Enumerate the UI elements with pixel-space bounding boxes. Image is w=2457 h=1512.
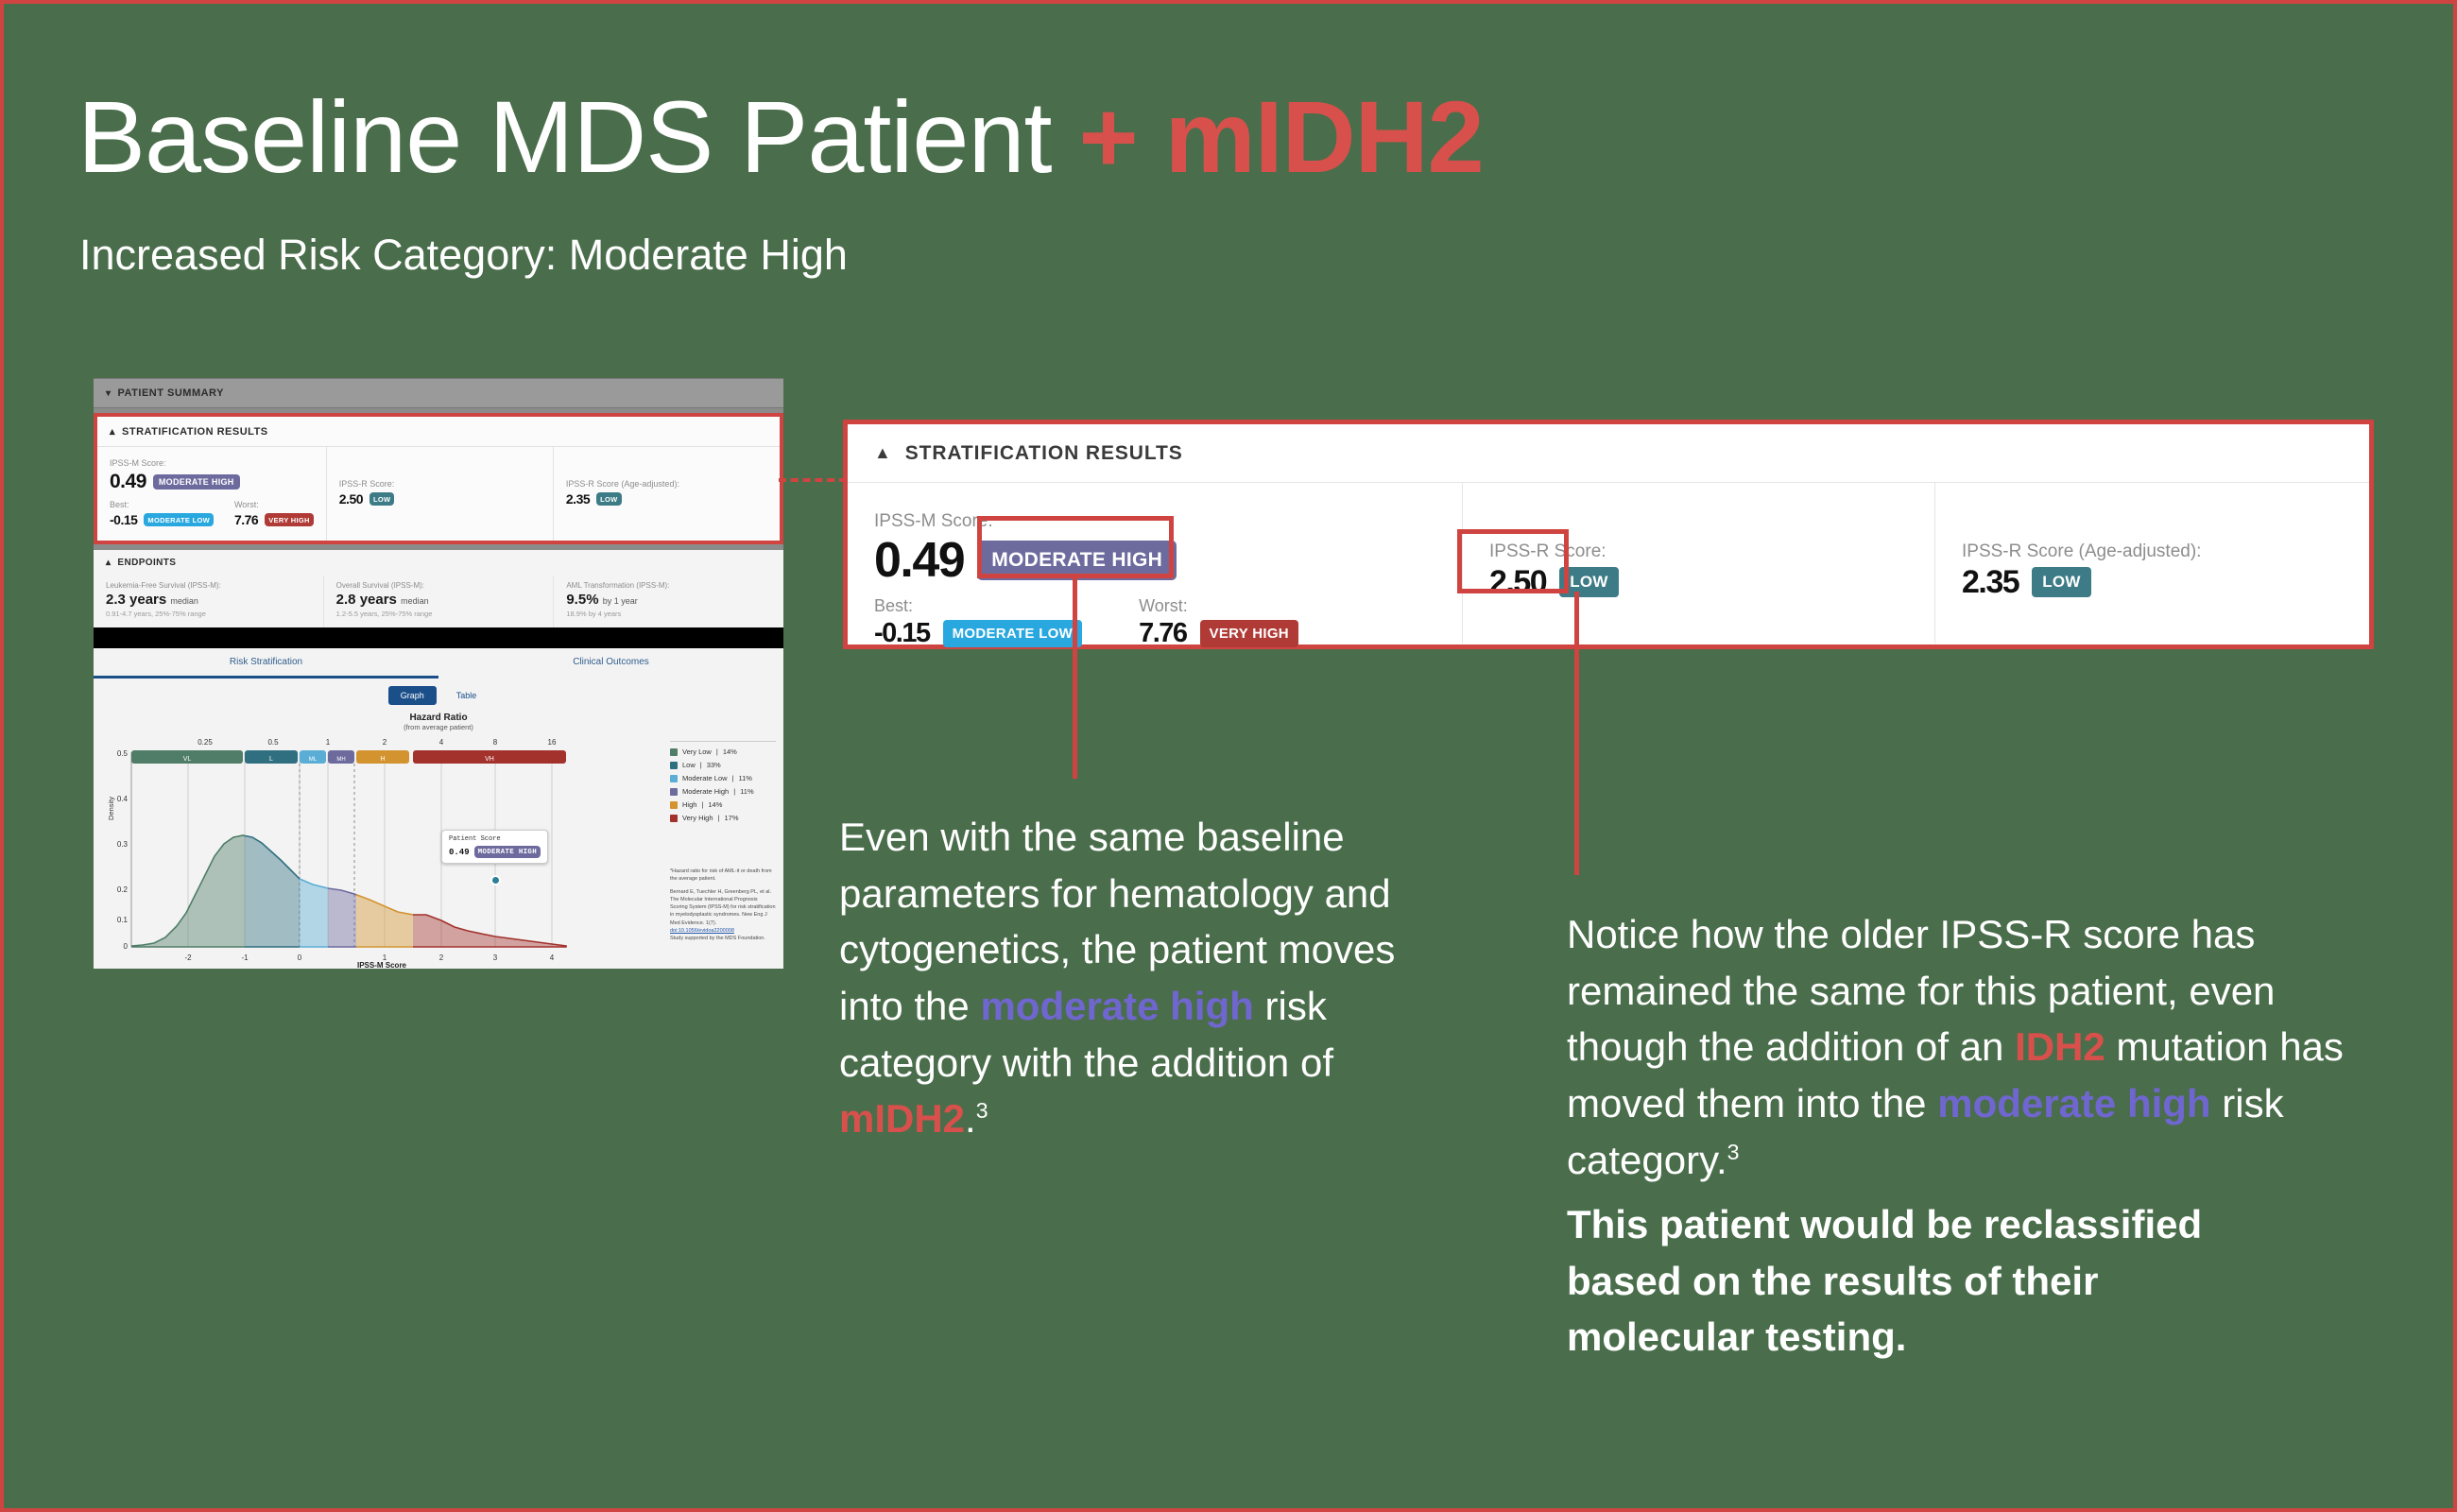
legend-swatch [670,801,678,809]
legend-item: Moderate High| 11% [670,787,776,796]
callout-left-superscript: 3 [976,1098,988,1123]
chevron-up-icon: ▴ [110,425,115,438]
panel-header-label: STRATIFICATION RESULTS [905,442,1183,465]
panel-best-cell: Best: -0.15 MODERATE LOW [874,596,1082,647]
thumb-endpoints-panel: ▴ ENDPOINTS Leukemia-Free Survival (IPSS… [94,550,783,648]
panel-ipssm-badge: MODERATE HIGH [977,541,1177,580]
svg-text:VH: VH [485,756,494,763]
thumb-ipssm-label: IPSS-M Score: [110,458,314,468]
callout-right-highlight: moderate high [1937,1081,2210,1125]
thumb-ipssr-label: IPSS-R Score: [339,479,541,489]
legend-swatch [670,815,678,822]
panel-best-label: Best: [874,596,1082,616]
chevron-up-icon: ▴ [106,558,111,568]
citation-reference: Bernard E, Tuechler H, Greenberg PL, et … [670,889,776,926]
thumb-endpoint-item: AML Transformation (IPSS-M): 9.5% by 1 y… [553,576,783,627]
thumb-endpoint-label: AML Transformation (IPSS-M): [566,581,771,590]
citation-doi-link[interactable]: doi:10.1056/evidoa2200008 [670,928,734,934]
svg-text:ML: ML [309,757,318,763]
svg-text:0.1: 0.1 [117,916,129,924]
thumb-best-cell: Best: -0.15 MODERATE LOW [110,500,214,527]
panel-worst-label: Worst: [1139,596,1298,616]
panel-ipssm-value: 0.49 [874,536,964,585]
svg-text:L: L [269,756,273,763]
legend-pct: 17% [724,814,738,822]
legend-item: Moderate Low| 11% [670,774,776,782]
panel-best-badge: MODERATE LOW [943,620,1082,647]
thumb-tab-clinical-outcomes[interactable]: Clinical Outcomes [438,648,783,679]
chart-svg: 0.25 0.5 1 2 4 8 16 0.5 0.4 0.3 0.2 0.1 … [94,733,668,969]
thumb-best-value: -0.15 [110,512,137,527]
citation-footnote: *Hazard ratio for risk of AML-it or deat… [670,868,776,884]
panel-ipssm-column: IPSS-M Score: 0.49 MODERATE HIGH Best: -… [848,483,1462,644]
panel-worst-badge: VERY HIGH [1200,620,1298,647]
svg-text:MH: MH [336,757,345,763]
thumbnail-to-panel-connector [779,478,847,482]
chart-subtitle: (from average patient) [94,723,783,731]
thumb-worst-value: 7.76 [234,512,258,527]
thumb-endpoint-label: Overall Survival (IPSS-M): [336,581,541,590]
svg-text:H: H [380,756,385,763]
thumb-worst-badge: VERY HIGH [265,513,314,526]
chevron-up-icon: ▲ [874,443,892,463]
callout-left-highlight: moderate high [980,984,1253,1028]
thumb-endpoint-item: Leukemia-Free Survival (IPSS-M): 2.3 yea… [94,576,323,627]
panel-best-value: -0.15 [874,620,930,647]
connector-line-moderate-high [1073,576,1077,779]
chart-legend: Very Low| 14% Low| 33% Moderate Low| 11%… [670,741,776,827]
legend-label: High [682,800,696,809]
legend-label: Moderate High [682,787,729,796]
panel-ipssr-value: 2.50 [1489,566,1546,598]
thumb-endpoint-item: Overall Survival (IPSS-M): 2.8 years med… [323,576,554,627]
patient-score-marker [490,875,501,885]
thumb-endpoint-sub: 1.2-5.5 years, 25%-75% range [336,610,541,618]
svg-text:0.5: 0.5 [267,738,279,747]
thumb-toggle-graph[interactable]: Graph [388,686,437,705]
page-subtitle: Increased Risk Category: Moderate High [79,231,848,280]
slide-root: Baseline MDS Patient + mIDH2 Increased R… [0,0,2457,1512]
tooltip-badge: MODERATE HIGH [474,846,541,858]
panel-ipssr-age-badge: LOW [2032,567,2091,597]
chart-title: Hazard Ratio [94,709,783,723]
legend-label: Low [682,761,696,769]
legend-swatch [670,788,678,796]
thumb-endpoint-unit: median [170,596,198,606]
thumb-endpoint-value: 2.8 years [336,592,397,608]
svg-text:0.2: 0.2 [117,885,129,894]
thumb-ipssm-cell: IPSS-M Score: 0.49 MODERATE HIGH Best: -… [97,447,326,541]
thumb-ipssm-value: 0.49 [110,471,146,493]
legend-item: Low| 33% [670,761,776,769]
citation-support: Study supported by the MDS Foundation. [670,935,776,942]
legend-item: Very High| 17% [670,814,776,822]
thumb-worst-cell: Worst: 7.76 VERY HIGH [234,500,314,527]
thumb-patient-summary-label: PATIENT SUMMARY [118,387,224,399]
panel-worst-value: 7.76 [1139,620,1186,647]
thumb-endpoint-value: 2.3 years [106,592,166,608]
page-title-accent: mIDH2 [1165,79,1484,194]
svg-text:0.25: 0.25 [198,738,213,747]
legend-pct: 14% [723,747,737,756]
panel-header[interactable]: ▲ STRATIFICATION RESULTS [848,424,2369,483]
legend-item: High| 14% [670,800,776,809]
page-title-plus: + [1079,79,1138,194]
callout-left: Even with the same baseline parameters f… [839,809,1444,1147]
svg-text:8: 8 [493,738,498,747]
panel-ipssr-age-column: IPSS-R Score (Age-adjusted): 2.35 LOW [1934,483,2369,644]
thumb-tab-risk-stratification[interactable]: Risk Stratification [94,648,438,679]
patient-score-tooltip: Patient Score 0.49 MODERATE HIGH [441,830,548,864]
thumb-patient-summary-bar[interactable]: ▾ PATIENT SUMMARY [94,378,783,408]
thumb-stratification-panel: ▴ STRATIFICATION RESULTS IPSS-M Score: 0… [94,413,783,544]
legend-swatch [670,762,678,769]
callout-right-gene: IDH2 [2015,1024,2105,1069]
chart-y-axis-label: Density [107,797,115,820]
thumb-endpoint-unit: by 1 year [603,596,638,606]
callout-bold-note: This patient would be reclassified based… [1567,1196,2285,1366]
svg-text:4: 4 [439,738,444,747]
legend-swatch [670,775,678,782]
svg-text:1: 1 [326,738,331,747]
connector-line-ipssr [1574,592,1579,875]
legend-pct: 33% [707,761,721,769]
thumb-ipssr-age-badge: LOW [596,492,621,506]
legend-label: Moderate Low [682,774,728,782]
chart-x-axis-label: IPSS-M Score [94,961,670,969]
thumb-ipssr-badge: LOW [369,492,394,506]
thumb-endpoint-sub: 0.91-4.7 years, 25%-75% range [106,610,311,618]
thumb-ipssr-age-value: 2.35 [566,491,590,507]
legend-item: Very Low| 14% [670,747,776,756]
thumb-endpoint-unit: median [401,596,429,606]
thumb-best-label: Best: [110,500,214,509]
svg-text:0.4: 0.4 [117,795,129,803]
thumb-ipssr-age-cell: IPSS-R Score (Age-adjusted): 2.35 LOW [553,447,780,541]
tooltip-value: 0.49 [449,848,470,857]
panel-ipssr-badge: LOW [1559,567,1619,597]
thumb-endpoints-label: ENDPOINTS [117,558,176,568]
panel-ipssr-label: IPSS-R Score: [1489,541,1934,562]
thumb-view-toggle: Graph Table [94,679,783,709]
thumb-endpoint-sub: 18.9% by 4 years [566,610,771,618]
thumb-worst-label: Worst: [234,500,314,509]
thumb-ipssm-badge: MODERATE HIGH [153,474,240,490]
svg-text:0.3: 0.3 [117,840,129,849]
panel-ipssr-column: IPSS-R Score: 2.50 LOW [1462,483,1934,644]
panel-ipssm-label: IPSS-M Score: [874,511,1462,532]
panel-ipssr-age-value: 2.35 [1962,566,2019,598]
panel-ipssr-age-label: IPSS-R Score (Age-adjusted): [1962,541,2369,562]
thumb-divider-bar [94,627,783,648]
legend-pct: 11% [738,774,751,782]
thumb-ipssr-cell: IPSS-R Score: 2.50 LOW [326,447,553,541]
thumb-stratification-header[interactable]: ▴ STRATIFICATION RESULTS [97,417,780,447]
svg-text:0: 0 [124,942,129,951]
page-title-main: Baseline MDS Patient [77,79,1052,194]
thumb-tabbar: Risk Stratification Clinical Outcomes [94,648,783,679]
thumb-ipssr-value: 2.50 [339,491,363,507]
thumb-endpoint-label: Leukemia-Free Survival (IPSS-M): [106,581,311,590]
callout-right: Notice how the older IPSS-R score has re… [1567,906,2351,1188]
callout-right-superscript: 3 [1727,1140,1740,1164]
legend-pct: 11% [740,787,753,796]
svg-text:16: 16 [548,738,557,747]
app-screenshot-thumbnail[interactable]: ▾ PATIENT SUMMARY ▴ STRATIFICATION RESUL… [94,378,783,969]
legend-pct: 14% [708,800,722,809]
svg-text:2: 2 [383,738,387,747]
chevron-down-icon: ▾ [106,388,112,399]
legend-label: Very High [682,814,713,822]
thumb-endpoint-value: 9.5% [566,592,598,608]
page-title: Baseline MDS Patient + mIDH2 [77,83,1484,190]
thumb-stratification-label: STRATIFICATION RESULTS [122,426,268,438]
chart-citation: *Hazard ratio for risk of AML-it or deat… [670,868,776,942]
svg-text:VL: VL [183,756,192,763]
tooltip-title: Patient Score [449,835,541,843]
callout-left-part3: . [965,1096,976,1141]
thumb-ipssr-age-label: IPSS-R Score (Age-adjusted): [566,479,767,489]
thumb-endpoints-header[interactable]: ▴ ENDPOINTS [94,550,783,576]
legend-label: Very Low [682,747,712,756]
svg-text:0.5: 0.5 [117,749,129,758]
thumb-toggle-table[interactable]: Table [444,686,490,705]
thumb-best-badge: MODERATE LOW [144,513,214,526]
legend-swatch [670,748,678,756]
callout-left-gene: mIDH2 [839,1096,965,1141]
panel-worst-cell: Worst: 7.76 VERY HIGH [1139,596,1298,647]
risk-stratification-chart: Hazard Ratio (from average patient) 0.25… [94,709,783,969]
